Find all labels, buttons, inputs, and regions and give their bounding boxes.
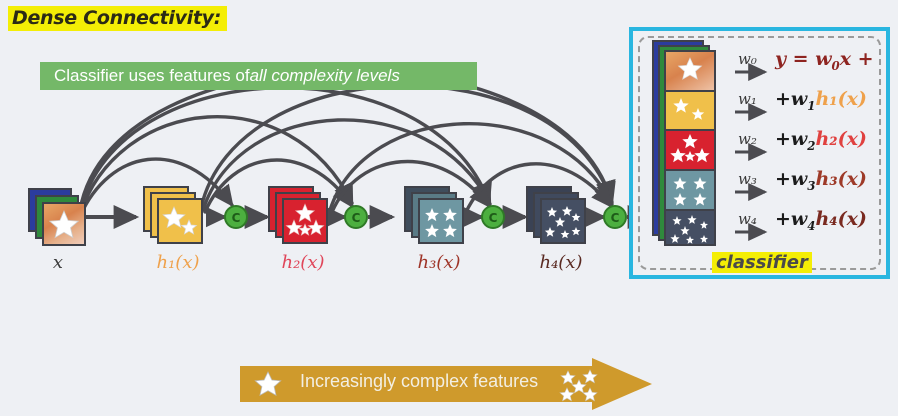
slide-canvas: Dense Connectivity: <box>0 0 898 416</box>
classifier-label: classifier <box>712 252 812 273</box>
complexity-arrow-banner: Increasingly complex features <box>240 358 652 410</box>
equation-term: h₂(x) <box>815 128 866 150</box>
equation-line-0: y = w0x + <box>775 48 874 73</box>
equation-prefix: +w <box>775 88 807 110</box>
equation-prefix: +w <box>775 128 807 150</box>
equation-prefix: y = w <box>775 48 832 70</box>
weight-label-w1: w₁ <box>738 90 757 108</box>
equation-prefix: +w <box>775 208 807 230</box>
equation-prefix: +w <box>775 168 807 190</box>
complexity-arrow-text: Increasingly complex features <box>300 371 538 392</box>
equation-line-3: +w3h₃(x) <box>775 168 867 193</box>
equation-sub: 0 <box>832 59 840 73</box>
weight-label-w4: w₄ <box>738 210 757 228</box>
equation-tail: x + <box>840 48 874 70</box>
weight-label-w2: w₂ <box>738 130 757 148</box>
weight-label-w3: w₃ <box>738 170 757 188</box>
equation-line-1: +w1h₁(x) <box>775 88 867 113</box>
equation-term: h₁(x) <box>815 88 866 110</box>
weight-arrows <box>0 0 898 416</box>
equation-term: h₄(x) <box>815 208 866 230</box>
equation-line-4: +w4h₄(x) <box>775 208 867 233</box>
equation-term: h₃(x) <box>815 168 866 190</box>
equation-line-2: +w2h₂(x) <box>775 128 867 153</box>
weight-label-w0: w₀ <box>738 50 757 68</box>
